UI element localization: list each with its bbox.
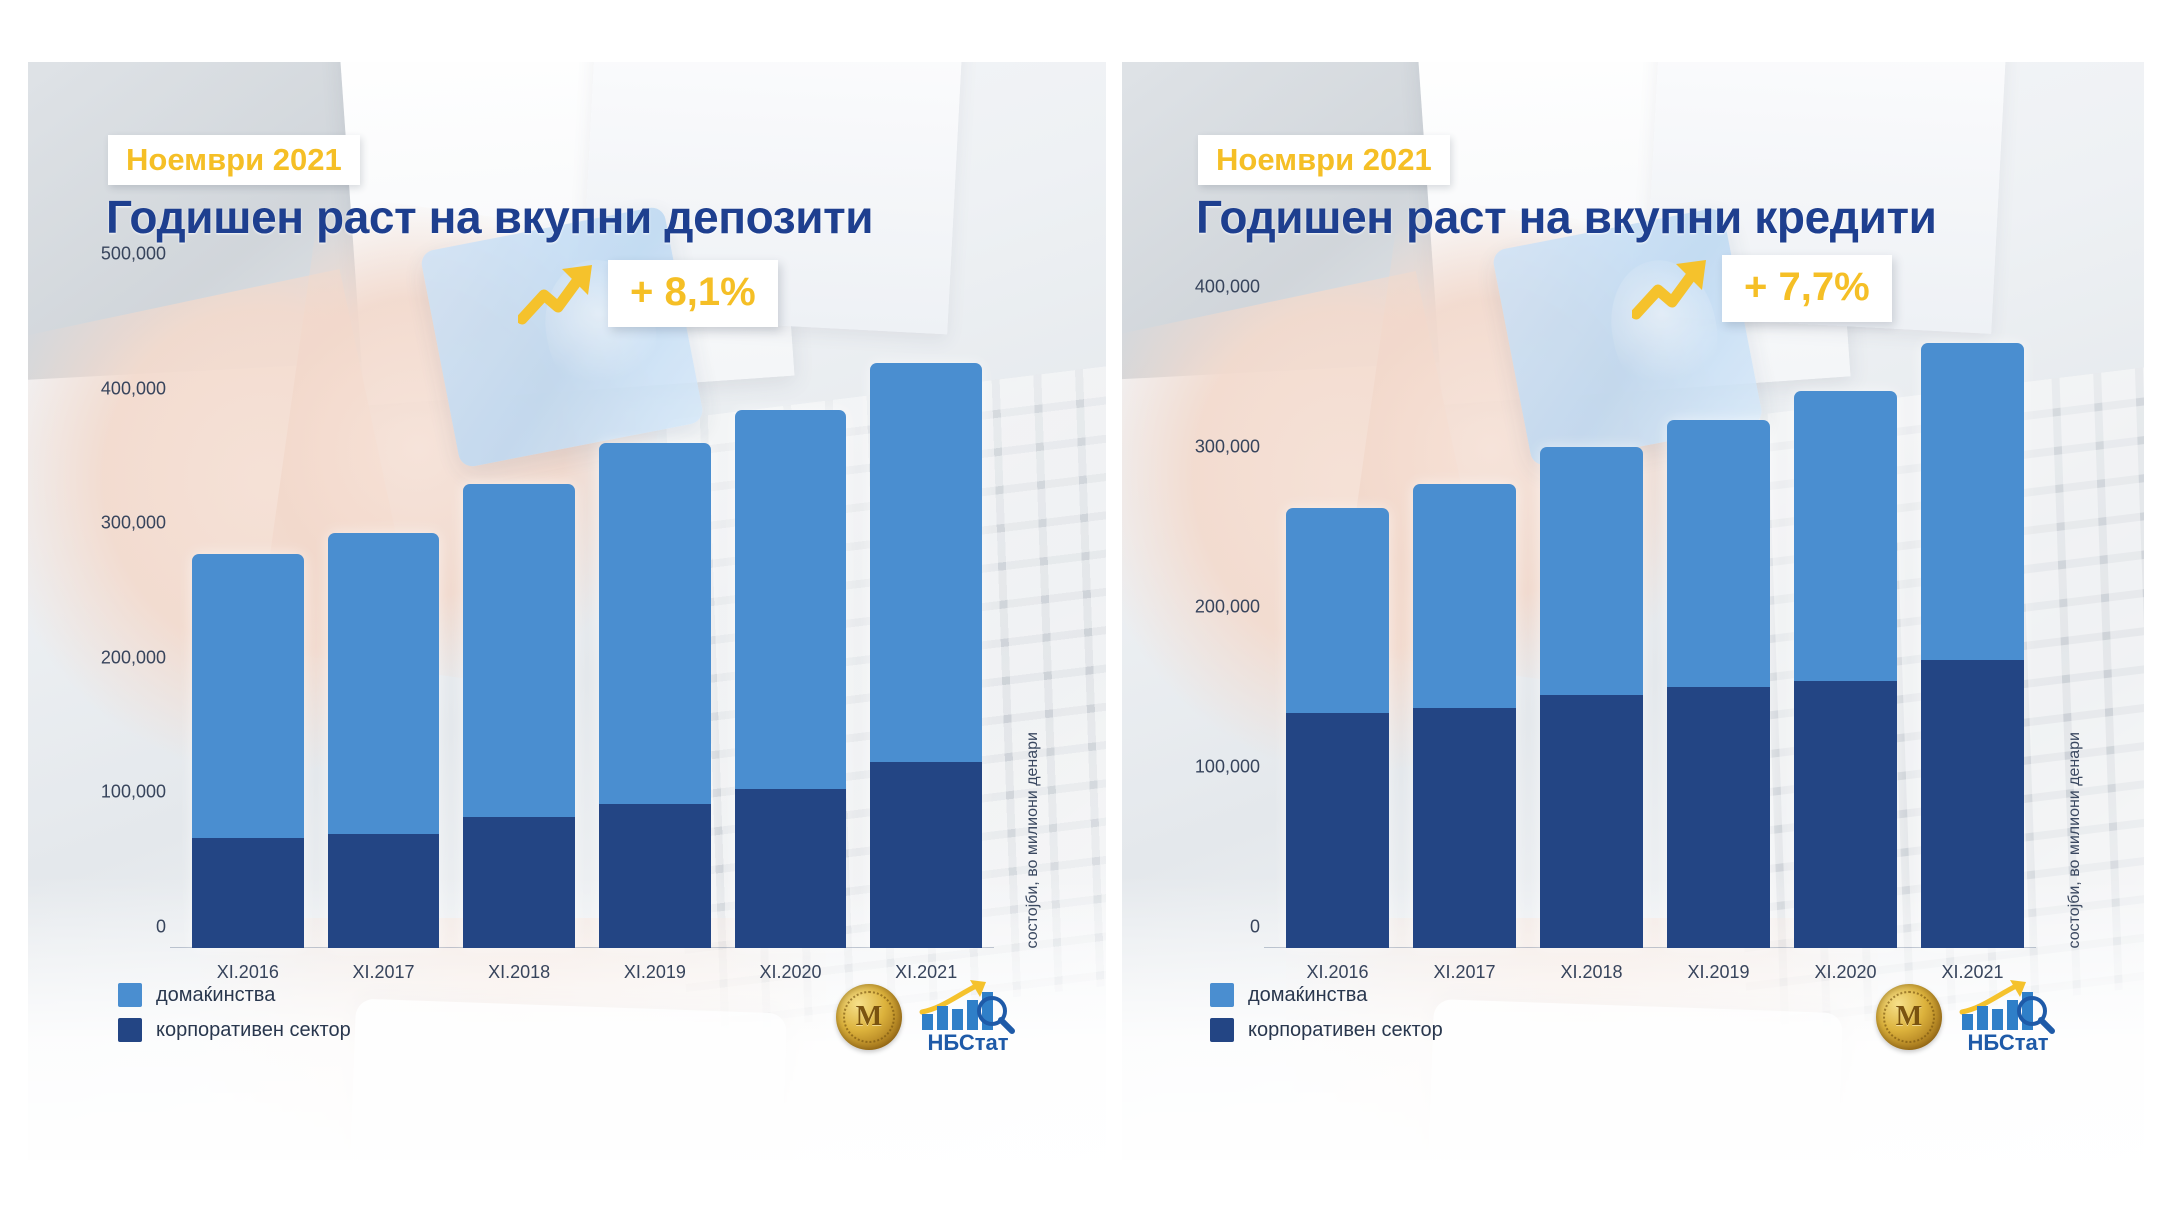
bar-segment-corporate [192,838,304,948]
bar-stack [463,484,575,948]
y-axis-tick: 400,000 [1195,277,1260,298]
bar-stack [1413,484,1516,948]
bar-segment-households [328,533,440,833]
bar-segment-households [1413,484,1516,708]
x-axis-tick: XI.2020 [735,962,847,983]
bar-column: XI.2017 [1413,276,1516,948]
legend-item: корпоративен сектор [118,1018,351,1042]
legend-item: домаќинства [118,983,351,1007]
bar-segment-corporate [328,834,440,948]
x-axis-tick: XI.2018 [1540,962,1643,983]
page-title: Годишен раст на вкупни депозити [106,190,873,244]
bar-column: XI.2016 [192,275,304,948]
bar-stack [192,554,304,948]
plot-area-credits: XI.2016XI.2017XI.2018XI.2019XI.2020XI.20… [1274,276,2036,948]
bar-column: XI.2017 [328,275,440,948]
y-axis-tick: 300,000 [101,513,166,534]
page-title: Годишен раст на вкупни кредити [1196,190,1936,244]
date-badge: Ноември 2021 [1198,135,1450,185]
bar-segment-corporate [735,789,847,948]
x-axis-tick: XI.2017 [1413,962,1516,983]
brand-lockup-deposits: М НБСтат [836,978,1020,1056]
bar-segment-corporate [1794,681,1897,948]
y-axis-tick: 100,000 [101,782,166,803]
bar-segment-corporate [1540,695,1643,948]
legend-label: домаќинства [1248,984,1367,1007]
bar-segment-corporate [1286,713,1389,948]
bar-column: XI.2020 [735,275,847,948]
nbstat-logo: НБСтат [916,978,1020,1056]
bar-stack [1794,391,1897,948]
bar-column: XI.2019 [599,275,711,948]
bar-stack [328,533,440,948]
y-axis-tick: 0 [156,917,166,938]
x-axis-tick: XI.2017 [328,962,440,983]
x-axis-tick: XI.2018 [463,962,575,983]
bar-stack [1540,447,1643,948]
brand-lockup-credits: М НБСтат [1876,978,2060,1056]
bar-segment-households [870,363,982,763]
nbstat-chart-magnifier-icon [916,978,1020,1034]
emblem-letter: М [1896,1003,1922,1031]
plot-area-deposits: XI.2016XI.2017XI.2018XI.2019XI.2020XI.20… [180,275,994,948]
date-badge: Ноември 2021 [108,135,360,185]
legend-label: домаќинства [156,984,275,1007]
emblem-letter: М [856,1003,882,1031]
y-axis-tick: 0 [1250,917,1260,938]
bar-segment-households [463,484,575,818]
bar-segment-corporate [599,804,711,948]
legend-swatch [1210,983,1234,1007]
legend-label: корпоративен сектор [156,1019,351,1042]
nbstat-logo: НБСтат [1956,978,2060,1056]
bar-segment-households [1794,391,1897,681]
bar-stack [1667,420,1770,948]
bar-segment-corporate [1667,687,1770,948]
chart-credits: XI.2016XI.2017XI.2018XI.2019XI.2020XI.20… [1182,258,2080,1000]
bar-stack [735,410,847,948]
legend-credits: домаќинствакорпоративен сектор [1210,983,1443,1042]
legend-item: корпоративен сектор [1210,1018,1443,1042]
legend-swatch [118,983,142,1007]
bar-segment-households [1540,447,1643,695]
y-axis-tick: 500,000 [101,244,166,265]
legend-item: домаќинства [1210,983,1443,1007]
y-axis-label: состојби, во милиони денари [1024,732,1042,948]
bar-column: XI.2016 [1286,276,1389,948]
y-axis-tick: 400,000 [101,378,166,399]
x-axis-tick: XI.2019 [599,962,711,983]
legend-deposits: домаќинствакорпоративен сектор [118,983,351,1042]
bar-group-deposits: XI.2016XI.2017XI.2018XI.2019XI.2020XI.20… [180,275,994,948]
infographic-canvas: Ноември 2021 Годишен раст на вкупни депо… [0,0,2172,1222]
bar-segment-households [1921,343,2024,660]
bar-column: XI.2019 [1667,276,1770,948]
bar-column: XI.2021 [870,275,982,948]
nbstat-wordmark: НБСтат [1967,1030,2048,1056]
y-axis-tick: 200,000 [1195,597,1260,618]
nbrm-coin-emblem-icon: М [836,984,902,1050]
y-axis-tick: 100,000 [1195,757,1260,778]
legend-swatch [118,1018,142,1042]
legend-swatch [1210,1018,1234,1042]
panel-credits: Ноември 2021 Годишен раст на вкупни кред… [1122,62,2144,1160]
x-axis-tick: XI.2019 [1667,962,1770,983]
nbrm-coin-emblem-icon: М [1876,984,1942,1050]
bar-column: XI.2018 [463,275,575,948]
nbstat-chart-magnifier-icon [1956,978,2060,1034]
nbstat-wordmark: НБСтат [927,1030,1008,1056]
panel-deposits: Ноември 2021 Годишен раст на вкупни депо… [28,62,1106,1160]
bar-segment-corporate [1413,708,1516,948]
bar-stack [1921,343,2024,948]
bar-column: XI.2021 [1921,276,2024,948]
x-axis-tick: XI.2016 [192,962,304,983]
bar-segment-corporate [1921,660,2024,948]
bar-group-credits: XI.2016XI.2017XI.2018XI.2019XI.2020XI.20… [1274,276,2036,948]
bar-stack [599,443,711,948]
bar-stack [870,363,982,949]
y-axis-label: состојби, во милиони денари [2066,732,2084,948]
chart-deposits: XI.2016XI.2017XI.2018XI.2019XI.2020XI.20… [88,257,1038,1000]
bar-stack [1286,508,1389,948]
bar-segment-households [735,410,847,790]
x-axis-tick: XI.2016 [1286,962,1389,983]
bar-segment-households [192,554,304,838]
bar-column: XI.2018 [1540,276,1643,948]
bar-column: XI.2020 [1794,276,1897,948]
bar-segment-households [599,443,711,804]
bar-segment-households [1286,508,1389,713]
legend-label: корпоративен сектор [1248,1019,1443,1042]
bar-segment-households [1667,420,1770,687]
bar-segment-corporate [870,762,982,948]
y-axis-tick: 300,000 [1195,437,1260,458]
bar-segment-corporate [463,817,575,948]
y-axis-tick: 200,000 [101,647,166,668]
